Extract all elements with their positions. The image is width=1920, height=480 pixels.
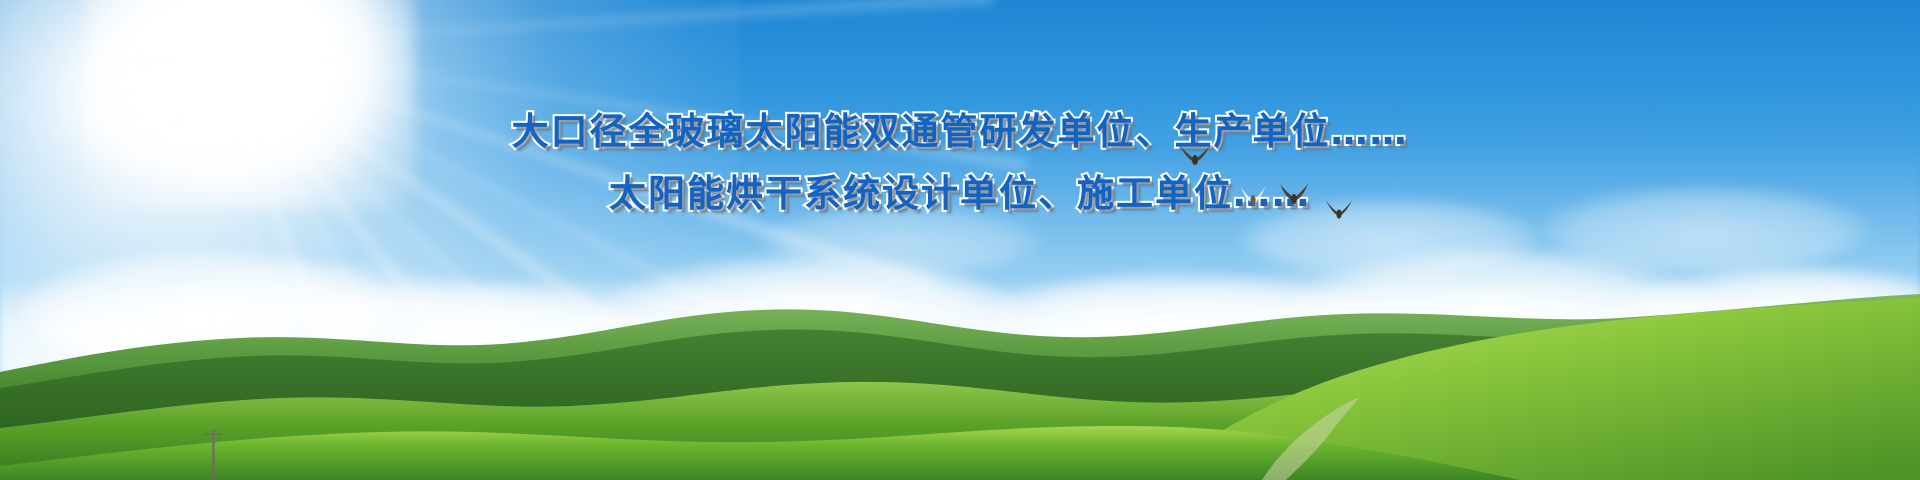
- hero-banner: 大口径全玻璃太阳能双通管研发单位、生产单位…… 太阳能烘干系统设计单位、施工单位…: [0, 0, 1920, 480]
- cloud-puff: [1540, 186, 1870, 272]
- flying-bird-icon: [1238, 185, 1268, 214]
- utility-pole-crossbar: [205, 433, 222, 436]
- utility-pole: [212, 430, 215, 480]
- cloud-puff: [760, 205, 1040, 275]
- flying-bird-icon: [1324, 198, 1354, 227]
- flying-bird-icon: [1178, 143, 1212, 174]
- green-hills: [0, 280, 1920, 480]
- flying-bird-icon: [1278, 182, 1310, 213]
